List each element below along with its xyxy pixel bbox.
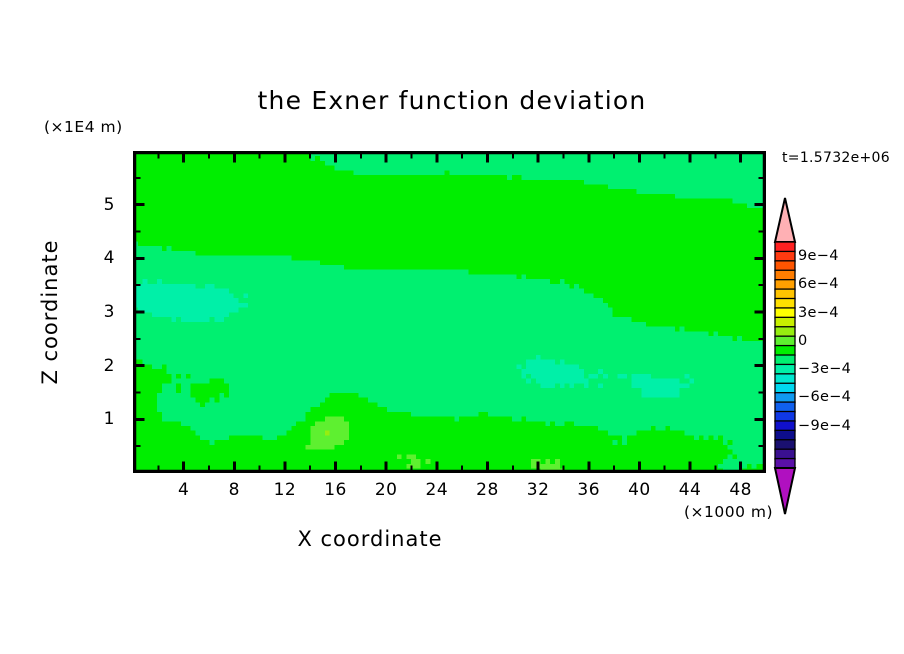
colorbar-band: [775, 383, 795, 393]
colorbar-band: [775, 336, 795, 346]
x-tick-label: 32: [527, 480, 550, 500]
y-tick-label: 2: [104, 356, 115, 376]
colorbar-band: [775, 355, 795, 365]
contour-plot: [133, 151, 766, 473]
y-axis-title: Z coordinate: [38, 202, 62, 422]
colorbar-band: [775, 402, 795, 412]
colorbar-band: [775, 449, 795, 459]
colorbar-tick-label: 0: [798, 333, 808, 349]
y-tick-label: 5: [104, 195, 115, 215]
contour-field: [133, 151, 766, 473]
colorbar: 9e−46e−43e−40−3e−4−6e−4−9e−4: [772, 196, 818, 516]
colorbar-band: [775, 327, 795, 337]
x-tick-label: 28: [476, 480, 499, 500]
colorbar-band: [775, 317, 795, 327]
x-tick-label: 48: [729, 480, 752, 500]
colorbar-band: [775, 440, 795, 450]
x-axis-units: (×1000 m): [684, 503, 773, 521]
colorbar-band: [775, 430, 795, 440]
colorbar-cap-top: [775, 198, 795, 242]
colorbar-tick-label: 6e−4: [798, 276, 839, 292]
colorbar-band: [775, 289, 795, 299]
x-tick-label: 8: [229, 480, 240, 500]
y-axis-units: (×1E4 m): [44, 118, 123, 136]
x-axis-title: X coordinate: [0, 527, 740, 551]
colorbar-band: [775, 270, 795, 280]
colorbar-band: [775, 280, 795, 290]
x-tick-label: 16: [324, 480, 347, 500]
x-tick-label: 12: [274, 480, 297, 500]
y-tick-label: 4: [104, 248, 115, 268]
colorbar-band: [775, 346, 795, 356]
x-tick-label: 36: [577, 480, 600, 500]
colorbar-band: [775, 251, 795, 261]
y-tick-label: 3: [104, 302, 115, 322]
page-title: the Exner function deviation: [0, 86, 904, 115]
x-tick-label: 4: [178, 480, 189, 500]
colorbar-scale: [772, 196, 798, 516]
colorbar-band: [775, 261, 795, 271]
y-tick-label: 1: [104, 409, 115, 429]
colorbar-tick-label: −3e−4: [798, 361, 851, 377]
colorbar-band: [775, 242, 795, 252]
colorbar-band: [775, 308, 795, 318]
colorbar-band: [775, 299, 795, 309]
colorbar-cap-bottom: [775, 468, 795, 514]
x-tick-label: 44: [679, 480, 702, 500]
colorbar-tick-label: 3e−4: [798, 305, 839, 321]
x-tick-label: 40: [628, 480, 651, 500]
x-tick-label: 20: [375, 480, 398, 500]
colorbar-band: [775, 421, 795, 431]
colorbar-tick-label: −6e−4: [798, 389, 851, 405]
colorbar-band: [775, 374, 795, 384]
colorbar-band: [775, 393, 795, 403]
colorbar-tick-label: 9e−4: [798, 248, 839, 264]
time-annotation: t=1.5732e+06: [782, 150, 890, 166]
colorbar-tick-label: −9e−4: [798, 418, 851, 434]
colorbar-band: [775, 412, 795, 422]
colorbar-band: [775, 364, 795, 374]
x-tick-label: 24: [426, 480, 449, 500]
